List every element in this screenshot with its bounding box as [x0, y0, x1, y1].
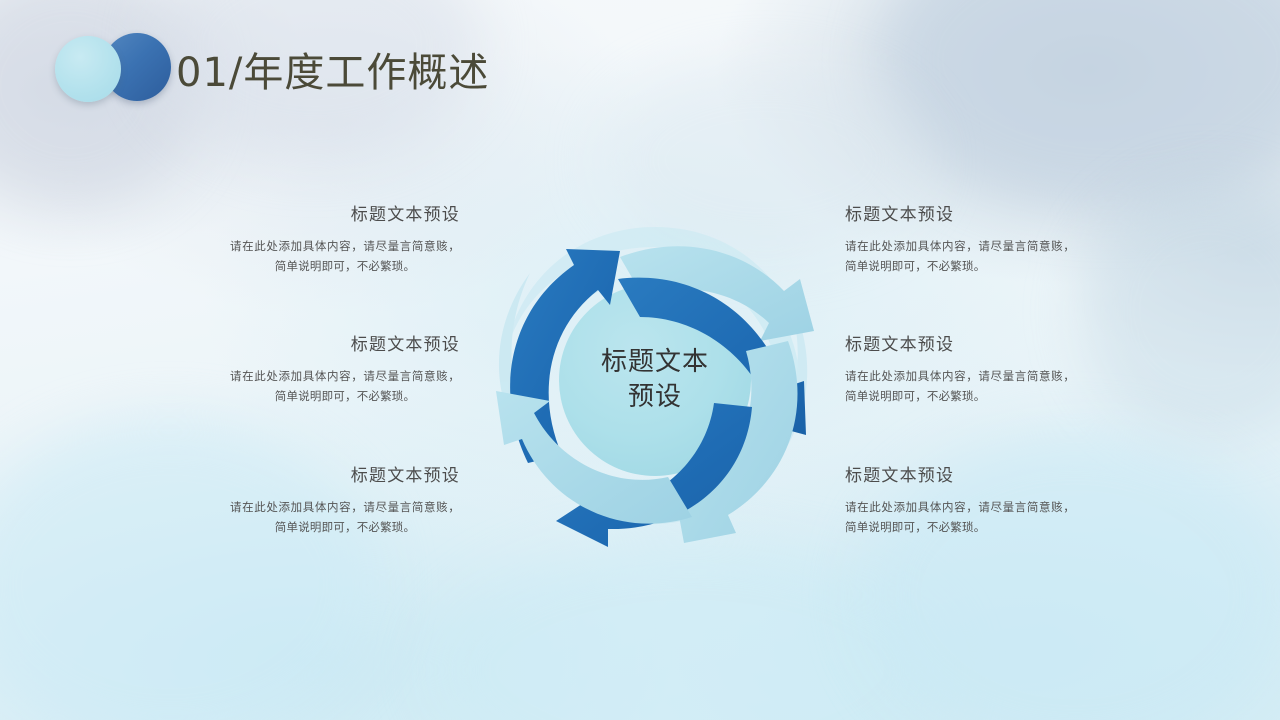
list-item[interactable]: 标题文本预设 请在此处添加具体内容，请尽量言简意赅，简单说明即可，不必繁琐。: [230, 330, 460, 406]
header-light-circle-icon: [55, 36, 121, 102]
page-title: 01/年度工作概述: [176, 40, 489, 98]
list-item[interactable]: 标题文本预设 请在此处添加具体内容，请尽量言简意赅，简单说明即可，不必繁琐。: [845, 461, 1075, 537]
item-body: 请在此处添加具体内容，请尽量言简意赅，简单说明即可，不必繁琐。: [845, 236, 1075, 276]
item-heading: 标题文本预设: [230, 200, 460, 225]
slide-canvas: 01/年度工作概述: [0, 0, 1280, 720]
item-heading: 标题文本预设: [230, 330, 460, 355]
item-heading: 标题文本预设: [845, 330, 1075, 355]
item-heading: 标题文本预设: [845, 200, 1075, 225]
list-item[interactable]: 标题文本预设 请在此处添加具体内容，请尽量言简意赅，简单说明即可，不必繁琐。: [230, 461, 460, 537]
list-item[interactable]: 标题文本预设 请在此处添加具体内容，请尽量言简意赅，简单说明即可，不必繁琐。: [845, 330, 1075, 406]
circular-swirl-diagram: 标题文本 预设: [470, 195, 840, 565]
item-body: 请在此处添加具体内容，请尽量言简意赅，简单说明即可，不必繁琐。: [230, 366, 460, 406]
item-heading: 标题文本预设: [845, 461, 1075, 486]
item-heading: 标题文本预设: [230, 461, 460, 486]
item-body: 请在此处添加具体内容，请尽量言简意赅，简单说明即可，不必繁琐。: [230, 236, 460, 276]
background-wash-blotch: [1080, 180, 1280, 440]
list-item[interactable]: 标题文本预设 请在此处添加具体内容，请尽量言简意赅，简单说明即可，不必繁琐。: [230, 200, 460, 276]
background-wash-blotch: [430, 540, 950, 720]
item-body: 请在此处添加具体内容，请尽量言简意赅，简单说明即可，不必繁琐。: [845, 366, 1075, 406]
list-item[interactable]: 标题文本预设 请在此处添加具体内容，请尽量言简意赅，简单说明即可，不必繁琐。: [845, 200, 1075, 276]
item-body: 请在此处添加具体内容，请尽量言简意赅，简单说明即可，不必繁琐。: [845, 497, 1075, 537]
item-body: 请在此处添加具体内容，请尽量言简意赅，简单说明即可，不必繁琐。: [230, 497, 460, 537]
slide-header: 01/年度工作概述: [0, 0, 1280, 140]
